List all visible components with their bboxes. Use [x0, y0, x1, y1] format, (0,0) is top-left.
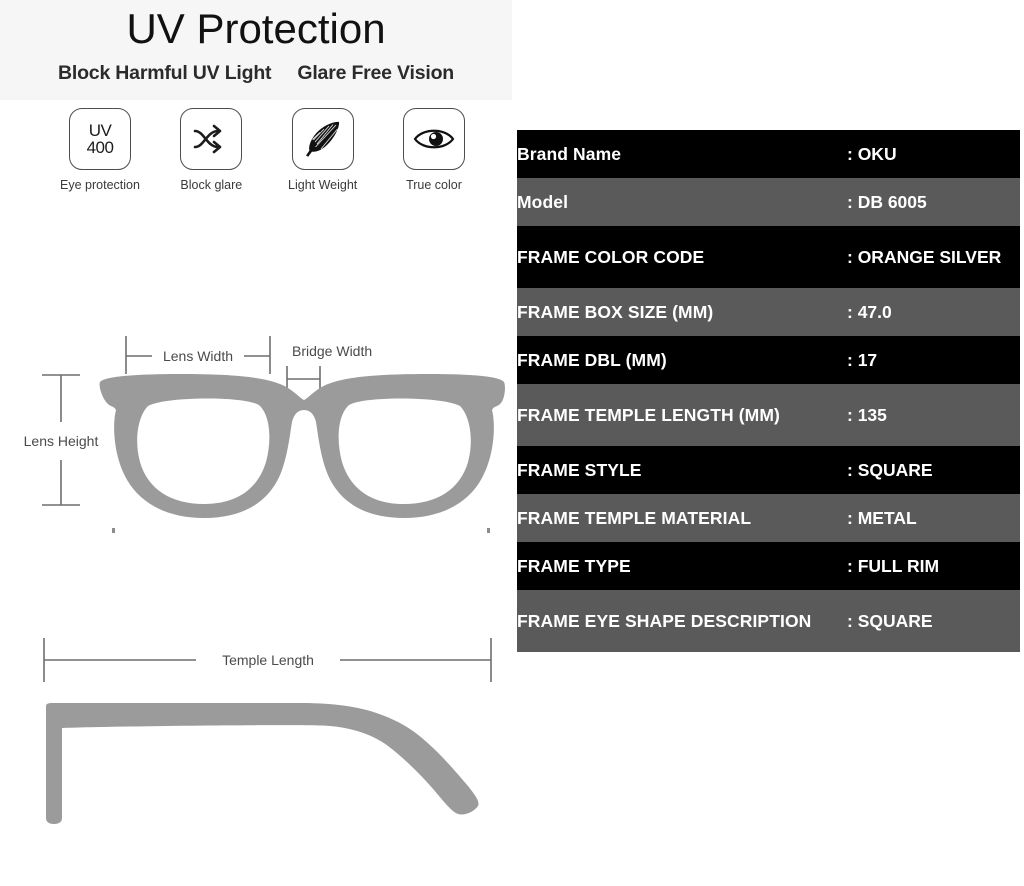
- banner-subtitles: Block Harmful UV Light Glare Free Vision: [0, 62, 512, 85]
- spec-value: : DB 6005: [847, 178, 1020, 226]
- spec-value: : SQUARE: [847, 446, 1020, 494]
- spec-value: : 17: [847, 336, 1020, 384]
- spec-value: : ORANGE SILVER: [847, 226, 1020, 288]
- feature-label-block-glare: Block glare: [180, 178, 242, 192]
- table-row: Brand Name : OKU: [517, 130, 1020, 178]
- temple-length-label: Temple Length: [222, 652, 314, 668]
- table-row: FRAME STYLE : SQUARE: [517, 446, 1020, 494]
- frame-front-diagram: Lens Width Bridge Width Lens Height: [0, 330, 512, 560]
- eye-icon: [403, 108, 465, 170]
- temple-arm-shape: [46, 703, 479, 824]
- bridge-width-label: Bridge Width: [292, 343, 372, 359]
- spec-value: : SQUARE: [847, 590, 1020, 652]
- spec-key: FRAME DBL (MM): [517, 336, 847, 384]
- lens-height-label: Lens Height: [24, 433, 99, 449]
- table-row: FRAME EYE SHAPE DESCRIPTION : SQUARE: [517, 590, 1020, 652]
- spec-key: FRAME COLOR CODE: [517, 226, 847, 288]
- table-row: FRAME BOX SIZE (MM) : 47.0: [517, 288, 1020, 336]
- feature-icon-row: UV 400 Eye protection Block glare: [52, 108, 482, 192]
- spec-key: Model: [517, 178, 847, 226]
- page-title: UV Protection: [0, 4, 512, 54]
- spec-value: : 47.0: [847, 288, 1020, 336]
- feather-icon: [292, 108, 354, 170]
- uv400-icon-text: UV 400: [87, 122, 114, 156]
- table-row: FRAME TEMPLE MATERIAL : METAL: [517, 494, 1020, 542]
- uv400-line1: UV: [87, 122, 114, 139]
- frame-tick-right: [487, 528, 490, 533]
- table-row: FRAME DBL (MM) : 17: [517, 336, 1020, 384]
- spec-value: : 135: [847, 384, 1020, 446]
- temple-length-diagram: Temple Length: [0, 620, 512, 860]
- table-row: FRAME TYPE : FULL RIM: [517, 542, 1020, 590]
- spec-key: FRAME TYPE: [517, 542, 847, 590]
- banner-subtitle-uv: Block Harmful UV Light: [58, 62, 271, 85]
- lens-width-label: Lens Width: [163, 348, 233, 364]
- bridge-width-dimension: [287, 366, 320, 392]
- feature-light-weight: Light Weight: [275, 108, 371, 192]
- spec-key: FRAME EYE SHAPE DESCRIPTION: [517, 590, 847, 652]
- table-row: Model : DB 6005: [517, 178, 1020, 226]
- spec-value: : OKU: [847, 130, 1020, 178]
- spec-value: : FULL RIM: [847, 542, 1020, 590]
- specification-table-body: Brand Name : OKU Model : DB 6005 FRAME C…: [517, 130, 1020, 652]
- shuffle-arrows-icon: [180, 108, 242, 170]
- uv400-icon: UV 400: [69, 108, 131, 170]
- feature-label-true-color: True color: [406, 178, 462, 192]
- feature-label-light-weight: Light Weight: [288, 178, 357, 192]
- feature-true-color: True color: [386, 108, 482, 192]
- spec-key: Brand Name: [517, 130, 847, 178]
- spec-key: FRAME TEMPLE MATERIAL: [517, 494, 847, 542]
- table-row: FRAME COLOR CODE : ORANGE SILVER: [517, 226, 1020, 288]
- spec-key: FRAME STYLE: [517, 446, 847, 494]
- feature-block-glare: Block glare: [163, 108, 259, 192]
- specification-table: Brand Name : OKU Model : DB 6005 FRAME C…: [517, 130, 1020, 652]
- feature-eye-protection: UV 400 Eye protection: [52, 108, 148, 192]
- frame-tick-left: [112, 528, 115, 533]
- uv400-line2: 400: [87, 139, 114, 156]
- feature-label-eye-protection: Eye protection: [60, 178, 140, 192]
- spec-key: FRAME BOX SIZE (MM): [517, 288, 847, 336]
- banner-subtitle-glare: Glare Free Vision: [297, 62, 454, 85]
- spec-value: : METAL: [847, 494, 1020, 542]
- table-row: FRAME TEMPLE LENGTH (MM) : 135: [517, 384, 1020, 446]
- eyeglass-frame-shape: [100, 374, 505, 518]
- spec-key: FRAME TEMPLE LENGTH (MM): [517, 384, 847, 446]
- product-info-panel: UV Protection Block Harmful UV Light Gla…: [0, 0, 516, 886]
